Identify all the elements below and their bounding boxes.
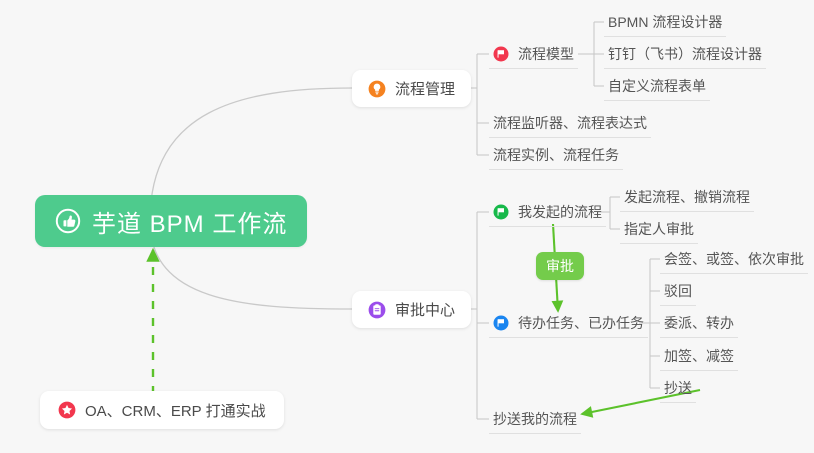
annotation-approval-tag[interactable]: 审批 [536, 252, 584, 280]
node-custom-process-form[interactable]: 自定义流程表单 [604, 72, 710, 101]
node-cc-to-me-process[interactable]: 抄送我的流程 [489, 405, 581, 434]
node-bpmn-designer-label: BPMN 流程设计器 [608, 12, 722, 32]
node-add-remove-sign[interactable]: 加签、减签 [660, 342, 738, 371]
flag-icon [493, 204, 509, 220]
node-process-listener-expression[interactable]: 流程监听器、流程表达式 [489, 109, 651, 138]
root-node[interactable]: 芋道 BPM 工作流 [35, 195, 307, 247]
node-approval-center-label: 审批中心 [395, 299, 455, 320]
node-countersign-orsign-sequential[interactable]: 会签、或签、依次审批 [660, 245, 808, 274]
node-todo-done-tasks[interactable]: 待办任务、已办任务 [489, 309, 648, 338]
flag-icon [493, 46, 509, 62]
root-label: 芋道 BPM 工作流 [92, 204, 287, 239]
node-todo-done-tasks-label: 待办任务、已办任务 [518, 313, 644, 333]
node-approval-center[interactable]: 审批中心 [352, 291, 471, 328]
node-bpmn-designer[interactable]: BPMN 流程设计器 [604, 8, 726, 37]
star-icon [58, 401, 76, 419]
node-reject[interactable]: 驳回 [660, 277, 696, 306]
mindmap-canvas: 芋道 BPM 工作流 流程管理 流程模型 流程监听器、流程表达式 流程实例、流 [0, 0, 814, 453]
node-countersign-orsign-sequential-label: 会签、或签、依次审批 [664, 249, 804, 269]
node-process-management-label: 流程管理 [395, 78, 455, 99]
node-process-model-label: 流程模型 [518, 44, 574, 64]
node-process-instance-task-label: 流程实例、流程任务 [493, 145, 619, 165]
node-add-remove-sign-label: 加签、减签 [664, 346, 734, 366]
node-reject-label: 驳回 [664, 281, 692, 301]
node-start-cancel-process[interactable]: 发起流程、撤销流程 [620, 183, 754, 212]
node-cc-to-me-process-label: 抄送我的流程 [493, 409, 577, 429]
clipboard-icon [368, 301, 386, 319]
node-process-model[interactable]: 流程模型 [489, 40, 578, 69]
node-start-cancel-process-label: 发起流程、撤销流程 [624, 187, 750, 207]
lightbulb-icon [368, 80, 386, 98]
node-assignee-approval-label: 指定人审批 [624, 219, 694, 239]
node-cc-label: 抄送 [664, 378, 692, 398]
node-process-instance-task[interactable]: 流程实例、流程任务 [489, 141, 623, 170]
flag-icon [493, 315, 509, 331]
node-dingtalk-feishu-designer-label: 钉钉（飞书）流程设计器 [608, 44, 762, 64]
thumbs-up-icon [55, 208, 81, 234]
node-my-initiated-process[interactable]: 我发起的流程 [489, 198, 606, 227]
node-process-management[interactable]: 流程管理 [352, 70, 471, 107]
node-cc[interactable]: 抄送 [660, 374, 696, 403]
node-oa-crm-erp[interactable]: OA、CRM、ERP 打通实战 [40, 391, 284, 429]
node-dingtalk-feishu-designer[interactable]: 钉钉（飞书）流程设计器 [604, 40, 766, 69]
node-assignee-approval[interactable]: 指定人审批 [620, 215, 698, 244]
node-custom-process-form-label: 自定义流程表单 [608, 76, 706, 96]
node-process-listener-expression-label: 流程监听器、流程表达式 [493, 113, 647, 133]
node-delegate-transfer-label: 委派、转办 [664, 313, 734, 333]
node-my-initiated-process-label: 我发起的流程 [518, 202, 602, 222]
node-delegate-transfer[interactable]: 委派、转办 [660, 309, 738, 338]
annotation-approval-tag-label: 审批 [546, 256, 574, 276]
node-oa-crm-erp-label: OA、CRM、ERP 打通实战 [85, 400, 266, 421]
